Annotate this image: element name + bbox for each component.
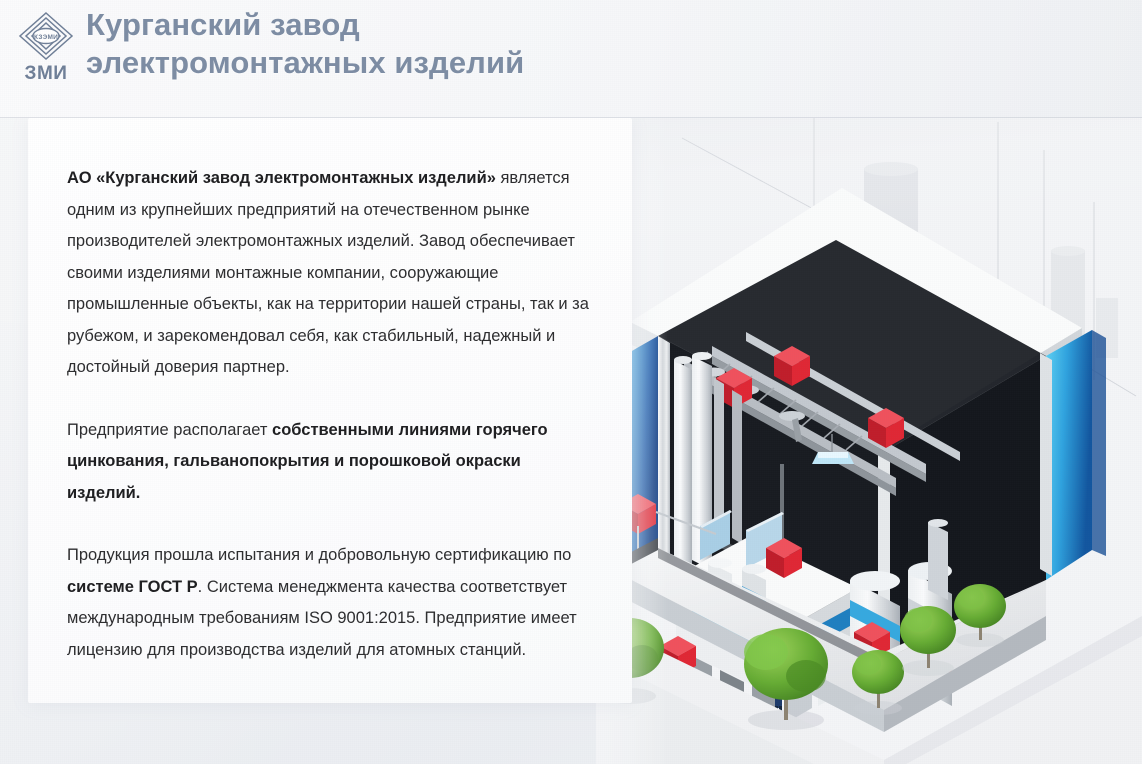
- intro-text-body: АО «Курганский завод электромонтажных из…: [67, 163, 597, 666]
- slide-page: АО «Курганский завод электромонтажных из…: [0, 0, 1142, 764]
- tree: [900, 606, 956, 676]
- blue-wall-right: [1046, 330, 1092, 580]
- paragraph-3: Продукция прошла испытания и добровольну…: [67, 540, 597, 666]
- paragraph-1-text: является одним из крупнейших предприятий…: [67, 169, 589, 376]
- tree: [852, 650, 904, 715]
- factory-illustration: [596, 60, 1142, 764]
- paragraph-2: Предприятие располагает собственными лин…: [67, 415, 597, 510]
- tree: [954, 584, 1006, 647]
- tree: [744, 628, 828, 730]
- svg-text:ЗМИ: ЗМИ: [25, 63, 68, 83]
- svg-text:КЗЭМИ: КЗЭМИ: [34, 34, 58, 41]
- blue-wall-right-edge: [1092, 330, 1106, 556]
- paragraph-1: АО «Курганский завод электромонтажных из…: [67, 163, 597, 384]
- paragraph-2-lead: Предприятие располагает: [67, 421, 272, 439]
- page-title: Курганский завод электромонтажных издели…: [86, 6, 524, 82]
- page-header: КЗЭМИ ЗМИ Курганский завод электромонтаж…: [0, 0, 1142, 118]
- company-legal-name: АО «Курганский завод электромонтажных из…: [67, 169, 500, 187]
- gost-r-highlight: системе ГОСТ Р: [67, 578, 198, 596]
- intro-text-card: АО «Курганский завод электромонтажных из…: [28, 118, 632, 703]
- paragraph-3-lead: Продукция прошла испытания и добровольну…: [67, 546, 571, 564]
- kzemi-diamond-logo-icon: КЗЭМИ ЗМИ: [17, 11, 75, 83]
